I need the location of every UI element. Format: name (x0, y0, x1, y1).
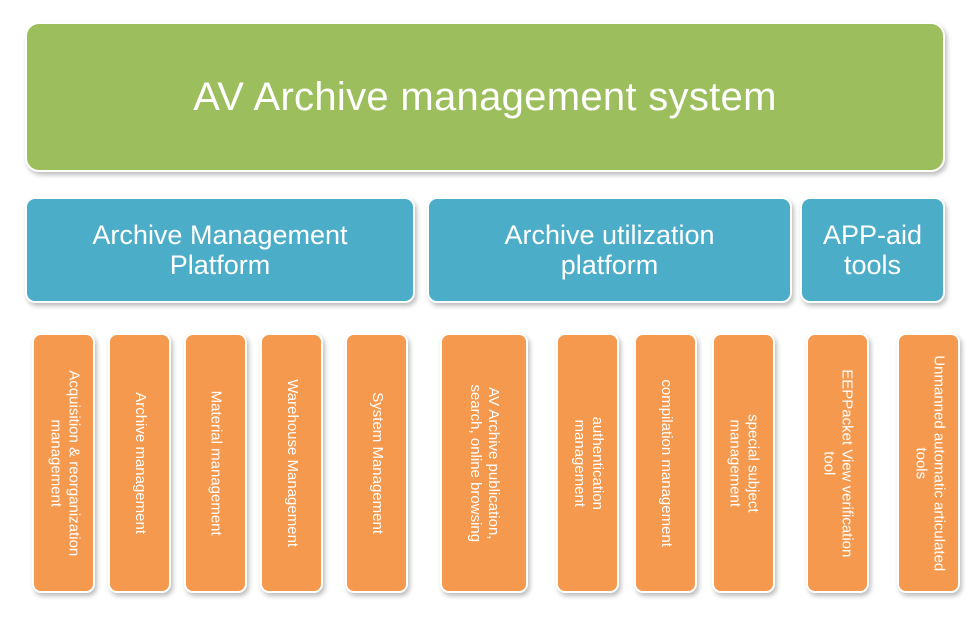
module-node-special-subject-management: special subjectmanagement (712, 333, 775, 593)
module-node-label: Warehouse Management (282, 379, 300, 547)
module-node-archive-management: Archive management (108, 333, 171, 593)
module-node-material-management: Material management (184, 333, 247, 593)
module-node-label: EEPPacket View verificationtool (819, 369, 856, 557)
platform-node-label: Archive utilizationplatform (504, 220, 714, 280)
module-node-av-archive-publication-search-online-browsing: AV Archive publication,search, online br… (440, 333, 528, 593)
platform-node-label: APP-aidtools (823, 220, 922, 280)
module-node-authentication-management: authenticationmanagement (556, 333, 619, 593)
module-node-label: authenticationmanagement (569, 416, 606, 509)
module-node-unmanned-automatic-articulated-tools: Unmanned automatic articulatedtools (897, 333, 960, 593)
module-node-label: AV Archive publication,search, online br… (466, 384, 503, 542)
module-node-acquisition-reorganization-management: Acquisition & reorganizationmanagement (32, 333, 95, 593)
platform-node-label: Archive ManagementPlatform (92, 220, 347, 280)
module-node-label: Acquisition & reorganizationmanagement (45, 370, 82, 556)
module-node-compilation-management: compilation management (634, 333, 697, 593)
module-node-eeppacket-view-verification-tool: EEPPacket View verificationtool (806, 333, 869, 593)
av-archive-management-system-diagram: AV Archive management system Archive Man… (0, 0, 970, 620)
platform-node-app-aid-tools: APP-aidtools (800, 197, 945, 303)
module-node-label: Material management (206, 390, 224, 535)
module-node-system-management: System Management (345, 333, 408, 593)
module-node-label: compilation management (656, 379, 674, 547)
root-node-av-archive-management-system: AV Archive management system (25, 22, 945, 172)
module-node-label: System Management (367, 392, 385, 534)
module-node-label: special subjectmanagement (725, 414, 762, 512)
module-node-warehouse-management: Warehouse Management (260, 333, 323, 593)
root-node-label: AV Archive management system (193, 75, 776, 120)
platform-node-archive-utilization-platform: Archive utilizationplatform (427, 197, 792, 303)
platform-node-archive-management-platform: Archive ManagementPlatform (25, 197, 415, 303)
module-node-label: Unmanned automatic articulatedtools (910, 355, 947, 571)
module-node-label: Archive management (130, 392, 148, 534)
